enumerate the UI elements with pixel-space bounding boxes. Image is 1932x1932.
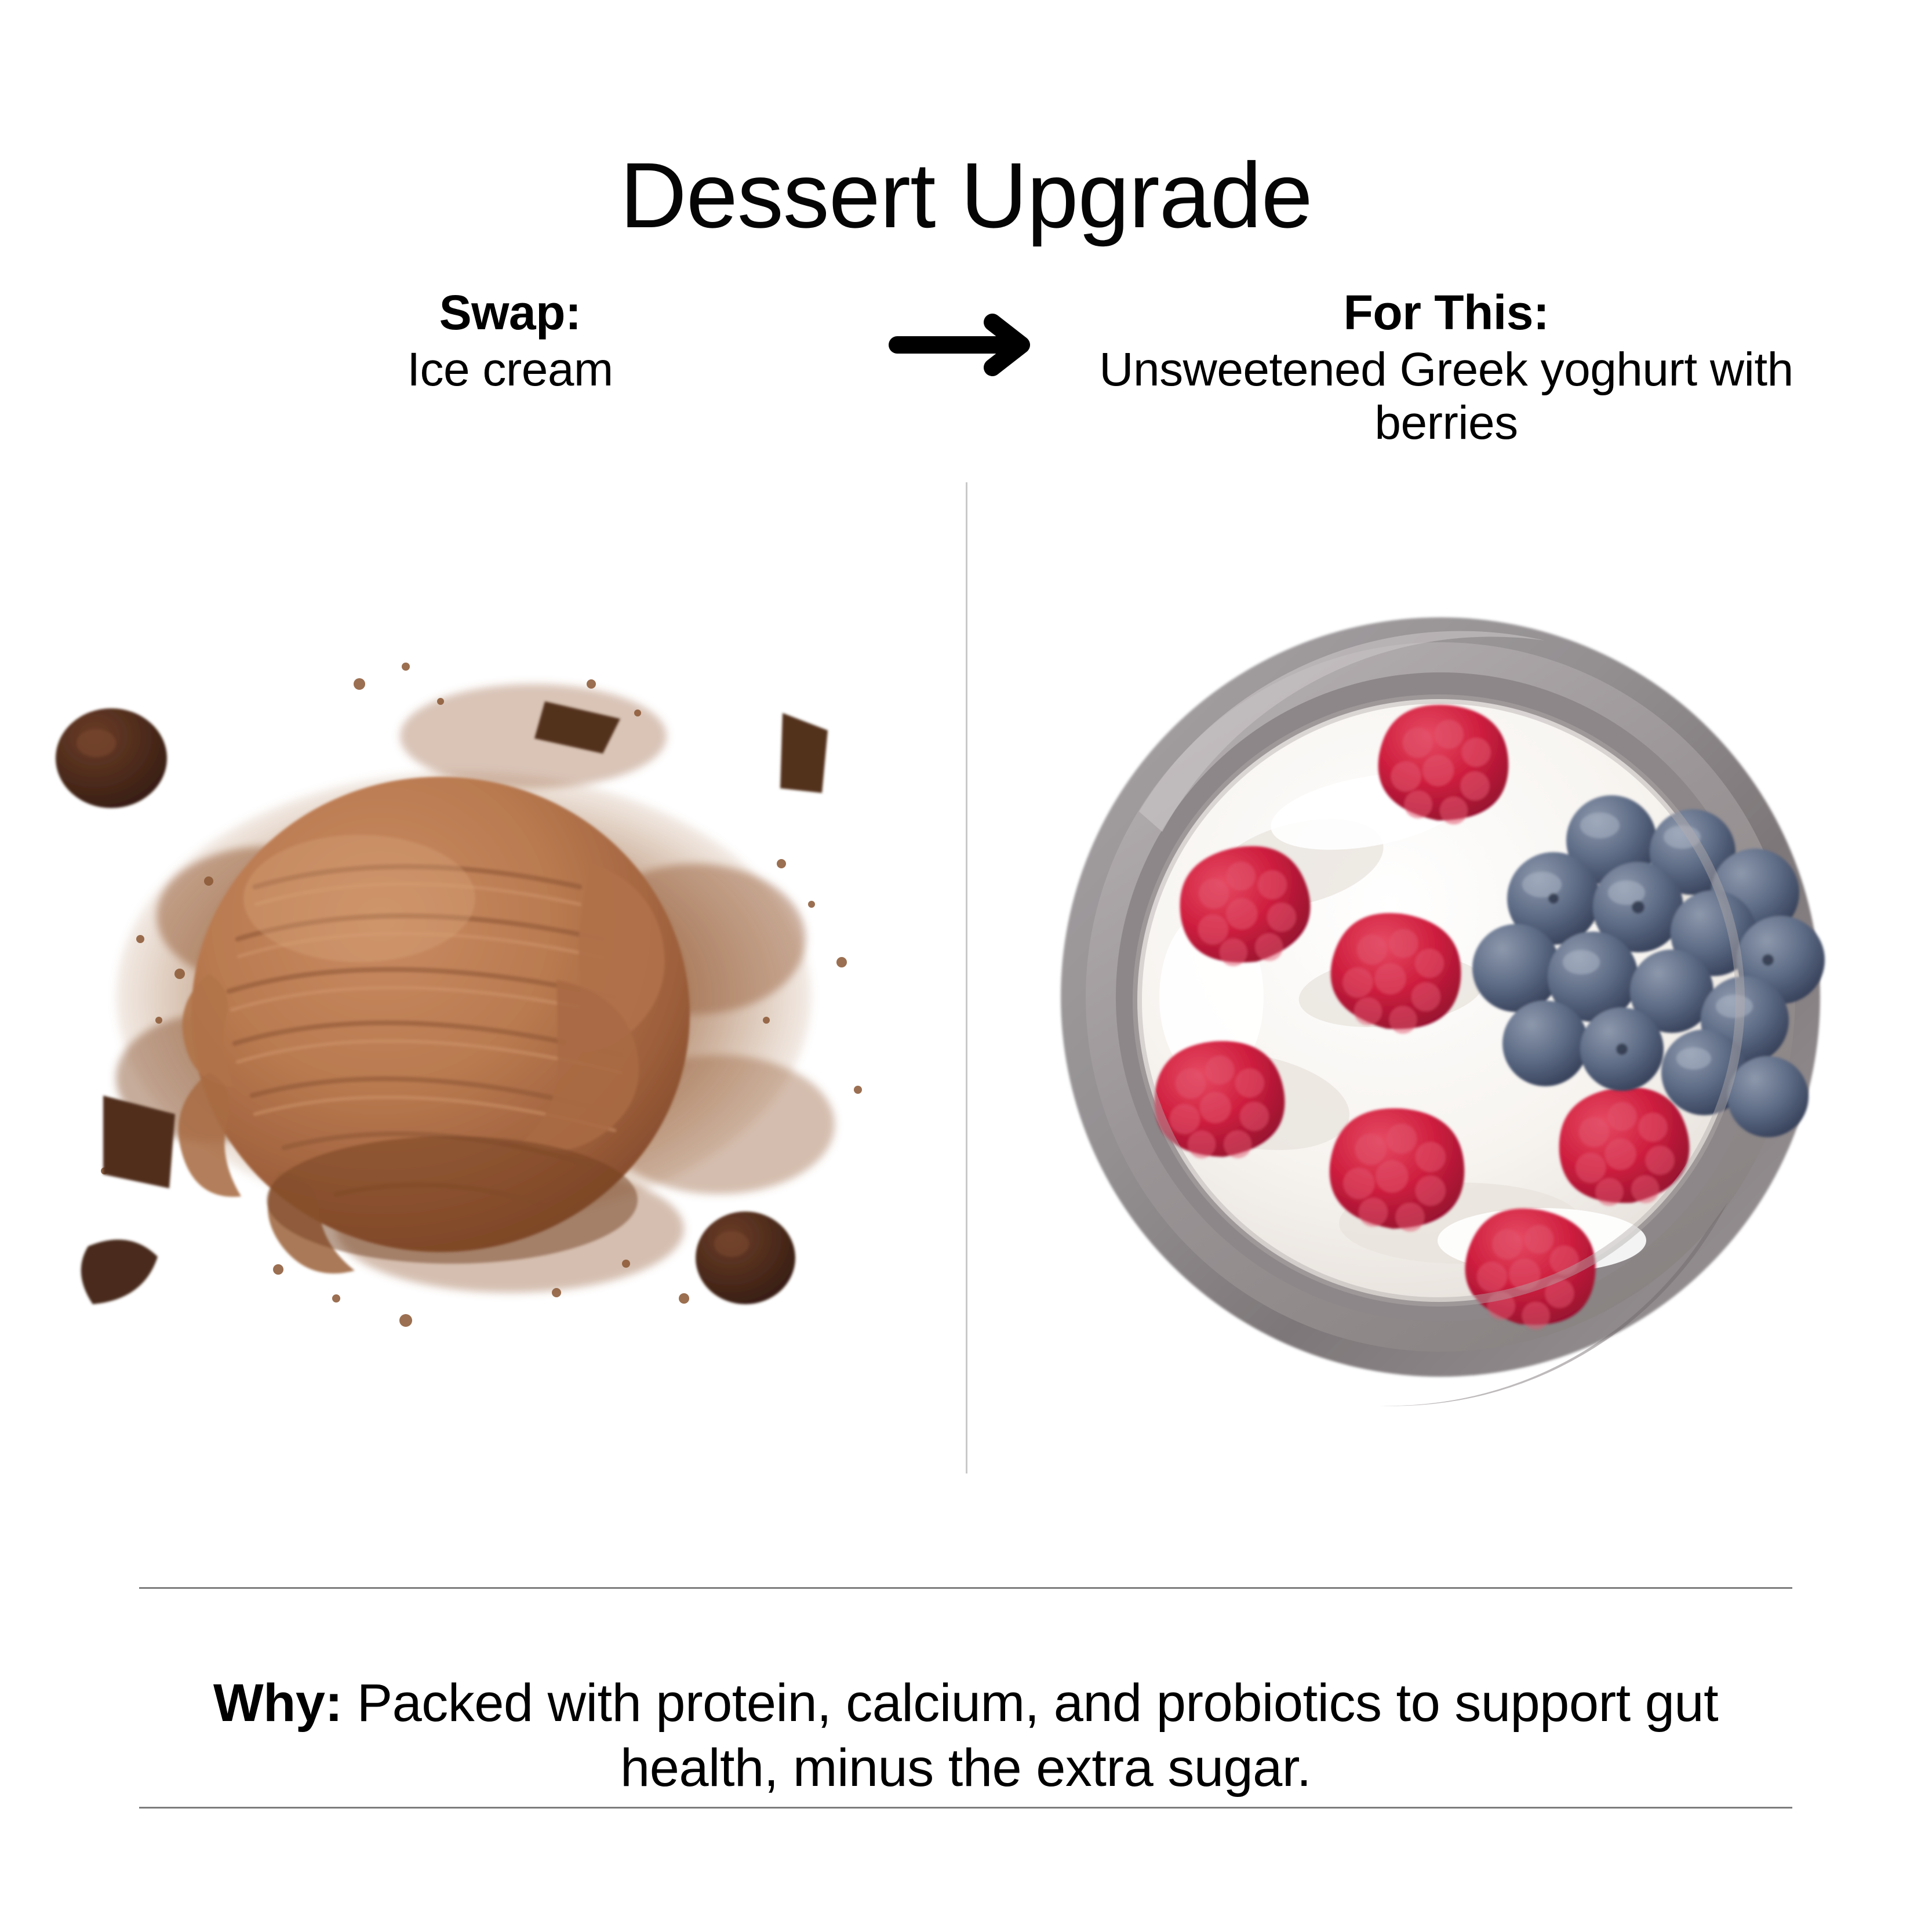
for-this-item-name: Unsweetened Greek yoghurt with berries	[1090, 343, 1803, 450]
why-text: Packed with protein, calcium, and probio…	[357, 1673, 1718, 1798]
why-divider-top	[139, 1587, 1792, 1589]
for-this-column-heading: For This: Unsweetened Greek yoghurt with…	[1090, 285, 1803, 450]
swap-label: Swap:	[174, 285, 846, 340]
ice-cream-photo	[35, 614, 904, 1356]
arrow-right-icon	[887, 313, 1043, 377]
swap-item-name: Ice cream	[174, 343, 846, 396]
column-divider	[966, 482, 967, 1473]
greek-yoghurt-bowl-photo	[1020, 591, 1866, 1414]
why-divider-bottom	[139, 1807, 1792, 1809]
page-title: Dessert Upgrade	[0, 149, 1932, 242]
why-note: Why: Packed with protein, calcium, and p…	[139, 1671, 1792, 1800]
why-label: Why:	[213, 1673, 343, 1733]
swap-column-heading: Swap: Ice cream	[174, 285, 846, 396]
for-this-label: For This:	[1090, 285, 1803, 340]
